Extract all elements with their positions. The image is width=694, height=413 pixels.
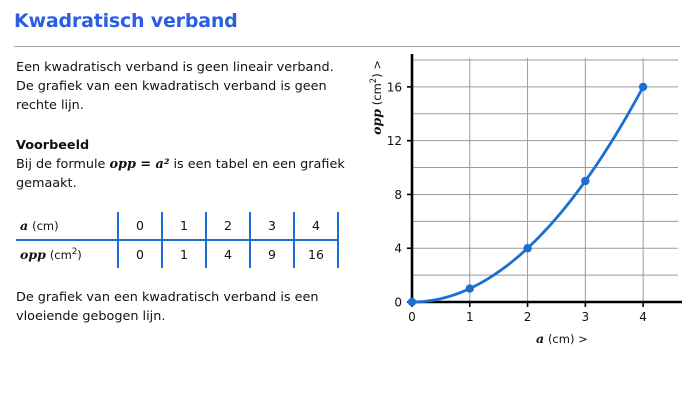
x-tick-label: 2 <box>524 310 532 324</box>
closing-paragraph: De grafiek van een kwadratisch verband i… <box>16 288 366 326</box>
quadratic-graph: 012340481216 a (cm) > opp (cm2) > <box>372 52 684 352</box>
intro-line-3: rechte lijn. <box>16 98 84 113</box>
y-tick-label: 8 <box>394 188 402 202</box>
cell-opp-3: 9 <box>250 240 294 268</box>
header-divider <box>14 46 680 47</box>
closing-text: De grafiek van een kwadratisch verband i… <box>16 288 366 326</box>
example-formula: opp = a² <box>109 157 169 172</box>
x-axis-caption: a (cm) > <box>536 331 588 346</box>
intro-paragraph: Een kwadratisch verband is geen lineair … <box>16 58 366 115</box>
row-header-opp: opp (cm2) <box>16 240 118 268</box>
axis-ticks <box>407 87 643 307</box>
x-tick-label: 0 <box>408 310 416 324</box>
example-paragraph: Bij de formule opp = a² is een tabel en … <box>16 155 366 193</box>
page-title: Kwadratisch verband <box>14 10 238 32</box>
value-table: a (cm) 0 1 2 3 4 opp (cm2) 0 1 4 9 16 <box>16 212 338 268</box>
cell-a-4: 4 <box>294 212 338 240</box>
example-suffix: is een tabel en een grafiek <box>169 157 344 172</box>
cell-opp-4: 16 <box>294 240 338 268</box>
y-axis-caption: opp (cm2) > <box>369 60 384 135</box>
lesson-text-column: Een kwadratisch verband is geen lineair … <box>16 58 366 193</box>
cell-opp-2: 4 <box>206 240 250 268</box>
cell-a-1: 1 <box>162 212 206 240</box>
x-tick-label: 3 <box>582 310 590 324</box>
y-tick-label: 0 <box>394 296 402 310</box>
y-tick-label: 12 <box>387 134 402 148</box>
tick-labels: 012340481216 <box>387 80 647 324</box>
cell-a-3: 3 <box>250 212 294 240</box>
table-row: a (cm) 0 1 2 3 4 <box>16 212 338 240</box>
closing-line-1: De grafiek van een kwadratisch verband i… <box>16 290 318 305</box>
table-row: opp (cm2) 0 1 4 9 16 <box>16 240 338 268</box>
x-tick-label: 1 <box>466 310 474 324</box>
y-tick-label: 4 <box>394 242 402 256</box>
intro-line-2: De grafiek van een kwadratisch verband i… <box>16 79 327 94</box>
example-heading: Voorbeeld <box>16 136 366 155</box>
example-line-2: gemaakt. <box>16 176 77 191</box>
chart-canvas: 012340481216 <box>372 52 684 352</box>
closing-line-2: vloeiende gebogen lijn. <box>16 309 165 324</box>
x-tick-label: 4 <box>639 310 647 324</box>
example-prefix: Bij de formule <box>16 157 109 172</box>
cell-opp-0: 0 <box>118 240 162 268</box>
lesson-page: Kwadratisch verband Een kwadratisch verb… <box>0 0 694 413</box>
cell-opp-1: 1 <box>162 240 206 268</box>
y-tick-label: 16 <box>387 80 402 94</box>
row-header-a: a (cm) <box>16 212 118 240</box>
cell-a-2: 2 <box>206 212 250 240</box>
cell-a-0: 0 <box>118 212 162 240</box>
intro-line-1: Een kwadratisch verband is geen lineair … <box>16 60 334 75</box>
